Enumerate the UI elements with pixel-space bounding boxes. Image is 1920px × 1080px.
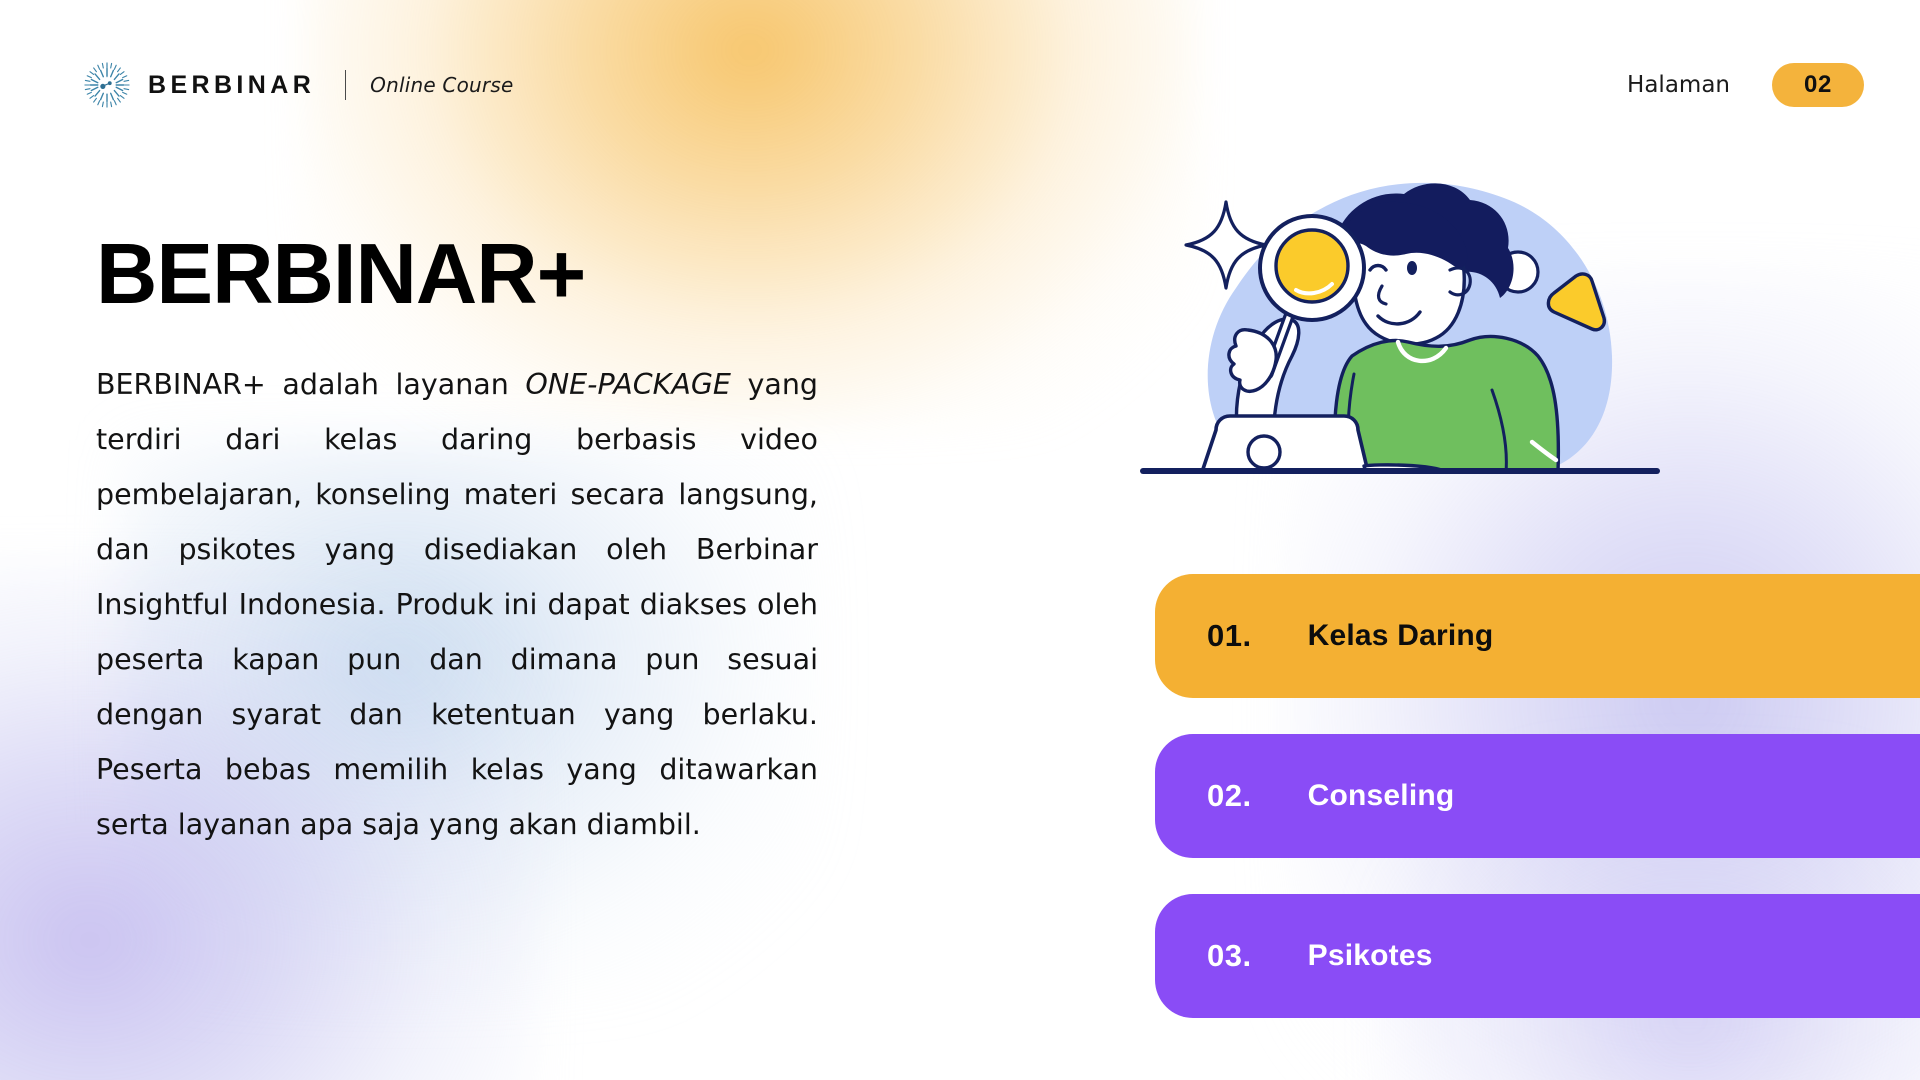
desk-line [1140, 468, 1660, 474]
service-item-number: 03. [1207, 938, 1252, 974]
brand-subtitle: Online Course [370, 73, 513, 97]
pagination-label: Halaman [1627, 72, 1730, 98]
service-item-number: 01. [1207, 618, 1252, 654]
magnifier-lens [1276, 230, 1348, 302]
laptop-screen [1202, 416, 1368, 472]
right-eye [1407, 261, 1417, 275]
page-title: BERBINAR+ [96, 232, 818, 317]
person-with-magnifying-glass-illustration [1140, 160, 1660, 590]
green-shirt-shape [1335, 337, 1559, 472]
brand-divider [345, 70, 346, 100]
pagination: Halaman 02 [1627, 63, 1864, 107]
service-item-label: Psikotes [1308, 939, 1433, 973]
paragraph-part-2: yang terdiri dari kelas daring berbasis … [96, 368, 818, 841]
berbinar-starburst-logo-icon [84, 62, 130, 108]
page-number-badge: 02 [1772, 63, 1864, 107]
service-item-number: 02. [1207, 778, 1252, 814]
service-list: 01. Kelas Daring 02. Conseling 03. Psiko… [1155, 574, 1920, 1054]
content-column: BERBINAR+ BERBINAR+ adalah layanan ONE-P… [96, 232, 818, 852]
service-item-conseling[interactable]: 02. Conseling [1155, 734, 1920, 858]
service-item-label: Conseling [1308, 779, 1455, 813]
service-item-label: Kelas Daring [1308, 619, 1494, 653]
description-paragraph: BERBINAR+ adalah layanan ONE-PACKAGE yan… [96, 357, 818, 852]
service-item-kelas-daring[interactable]: 01. Kelas Daring [1155, 574, 1920, 698]
service-item-psikotes[interactable]: 03. Psikotes [1155, 894, 1920, 1018]
paragraph-emphasis: ONE-PACKAGE [525, 368, 730, 401]
paragraph-part-1: BERBINAR+ adalah layanan [96, 368, 525, 401]
brand-name: BERBINAR [148, 71, 315, 100]
page-header: BERBINAR Online Course Halaman 02 [0, 0, 1920, 170]
brand-lockup[interactable]: BERBINAR Online Course [84, 62, 513, 108]
